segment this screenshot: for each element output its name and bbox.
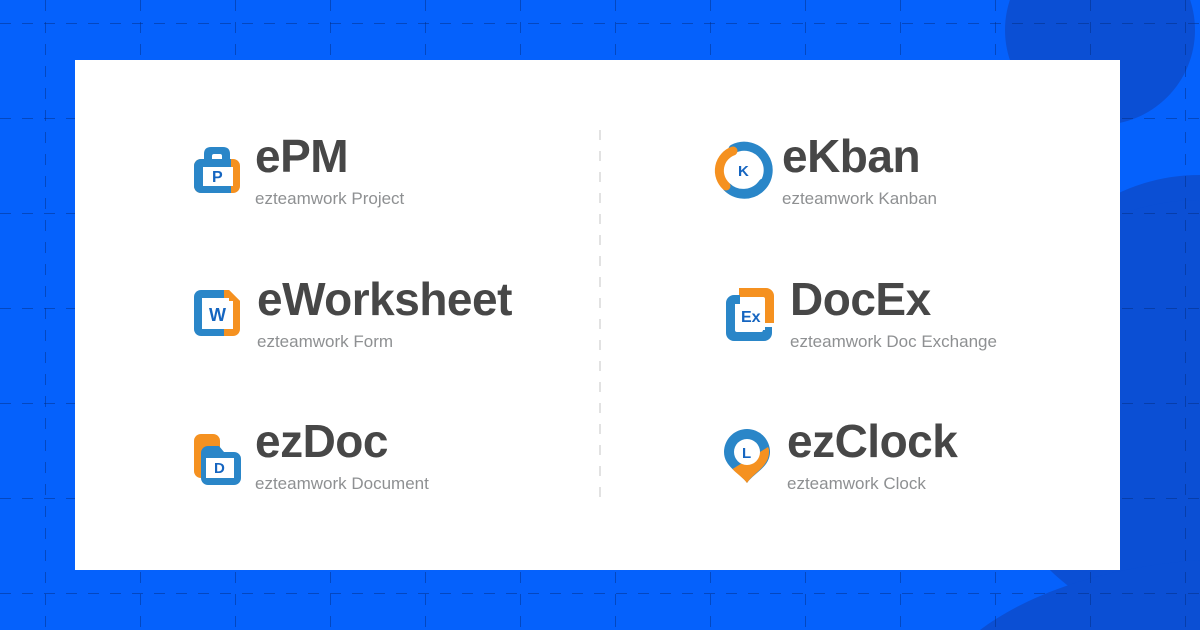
product-logo-ekban[interactable]: K eKban ezteamwork Kanban: [713, 133, 937, 207]
product-name: DocEx: [790, 276, 997, 322]
map-pin-clock-icon: L: [716, 423, 778, 487]
circle-loop-icon: K: [713, 139, 775, 201]
exchange-squares-icon: Ex: [719, 282, 781, 344]
product-name: eWorksheet: [257, 276, 512, 322]
icon-badge-label: D: [214, 460, 225, 477]
poster-canvas: P ePM ezteamwork Project K: [0, 0, 1200, 630]
icon-badge-label: Ex: [741, 309, 761, 326]
product-name: ezDoc: [255, 418, 429, 464]
product-subtitle: ezteamwork Clock: [787, 475, 957, 492]
product-subtitle: ezteamwork Document: [255, 475, 429, 492]
product-subtitle: ezteamwork Kanban: [782, 190, 937, 207]
icon-badge-label: P: [212, 169, 223, 186]
icon-badge-label: K: [738, 163, 749, 180]
product-subtitle: ezteamwork Form: [257, 333, 512, 350]
product-name: ePM: [255, 133, 404, 179]
product-logo-epm[interactable]: P ePM ezteamwork Project: [186, 133, 404, 207]
product-logo-docex[interactable]: Ex DocEx ezteamwork Doc Exchange: [719, 276, 997, 350]
document-icon: W: [186, 282, 248, 344]
product-logo-eworksheet[interactable]: W eWorksheet ezteamwork Form: [186, 276, 512, 350]
briefcase-icon: P: [186, 139, 248, 201]
product-logo-ezdoc[interactable]: D ezDoc ezteamwork Document: [186, 418, 429, 492]
product-logo-ezclock[interactable]: L ezClock ezteamwork Clock: [716, 418, 957, 492]
icon-badge-label: L: [742, 445, 751, 462]
folder-icon: D: [186, 424, 248, 486]
icon-badge-label: W: [209, 305, 226, 325]
product-name: eKban: [782, 133, 937, 179]
product-name: ezClock: [787, 418, 957, 464]
product-subtitle: ezteamwork Doc Exchange: [790, 333, 997, 350]
product-subtitle: ezteamwork Project: [255, 190, 404, 207]
